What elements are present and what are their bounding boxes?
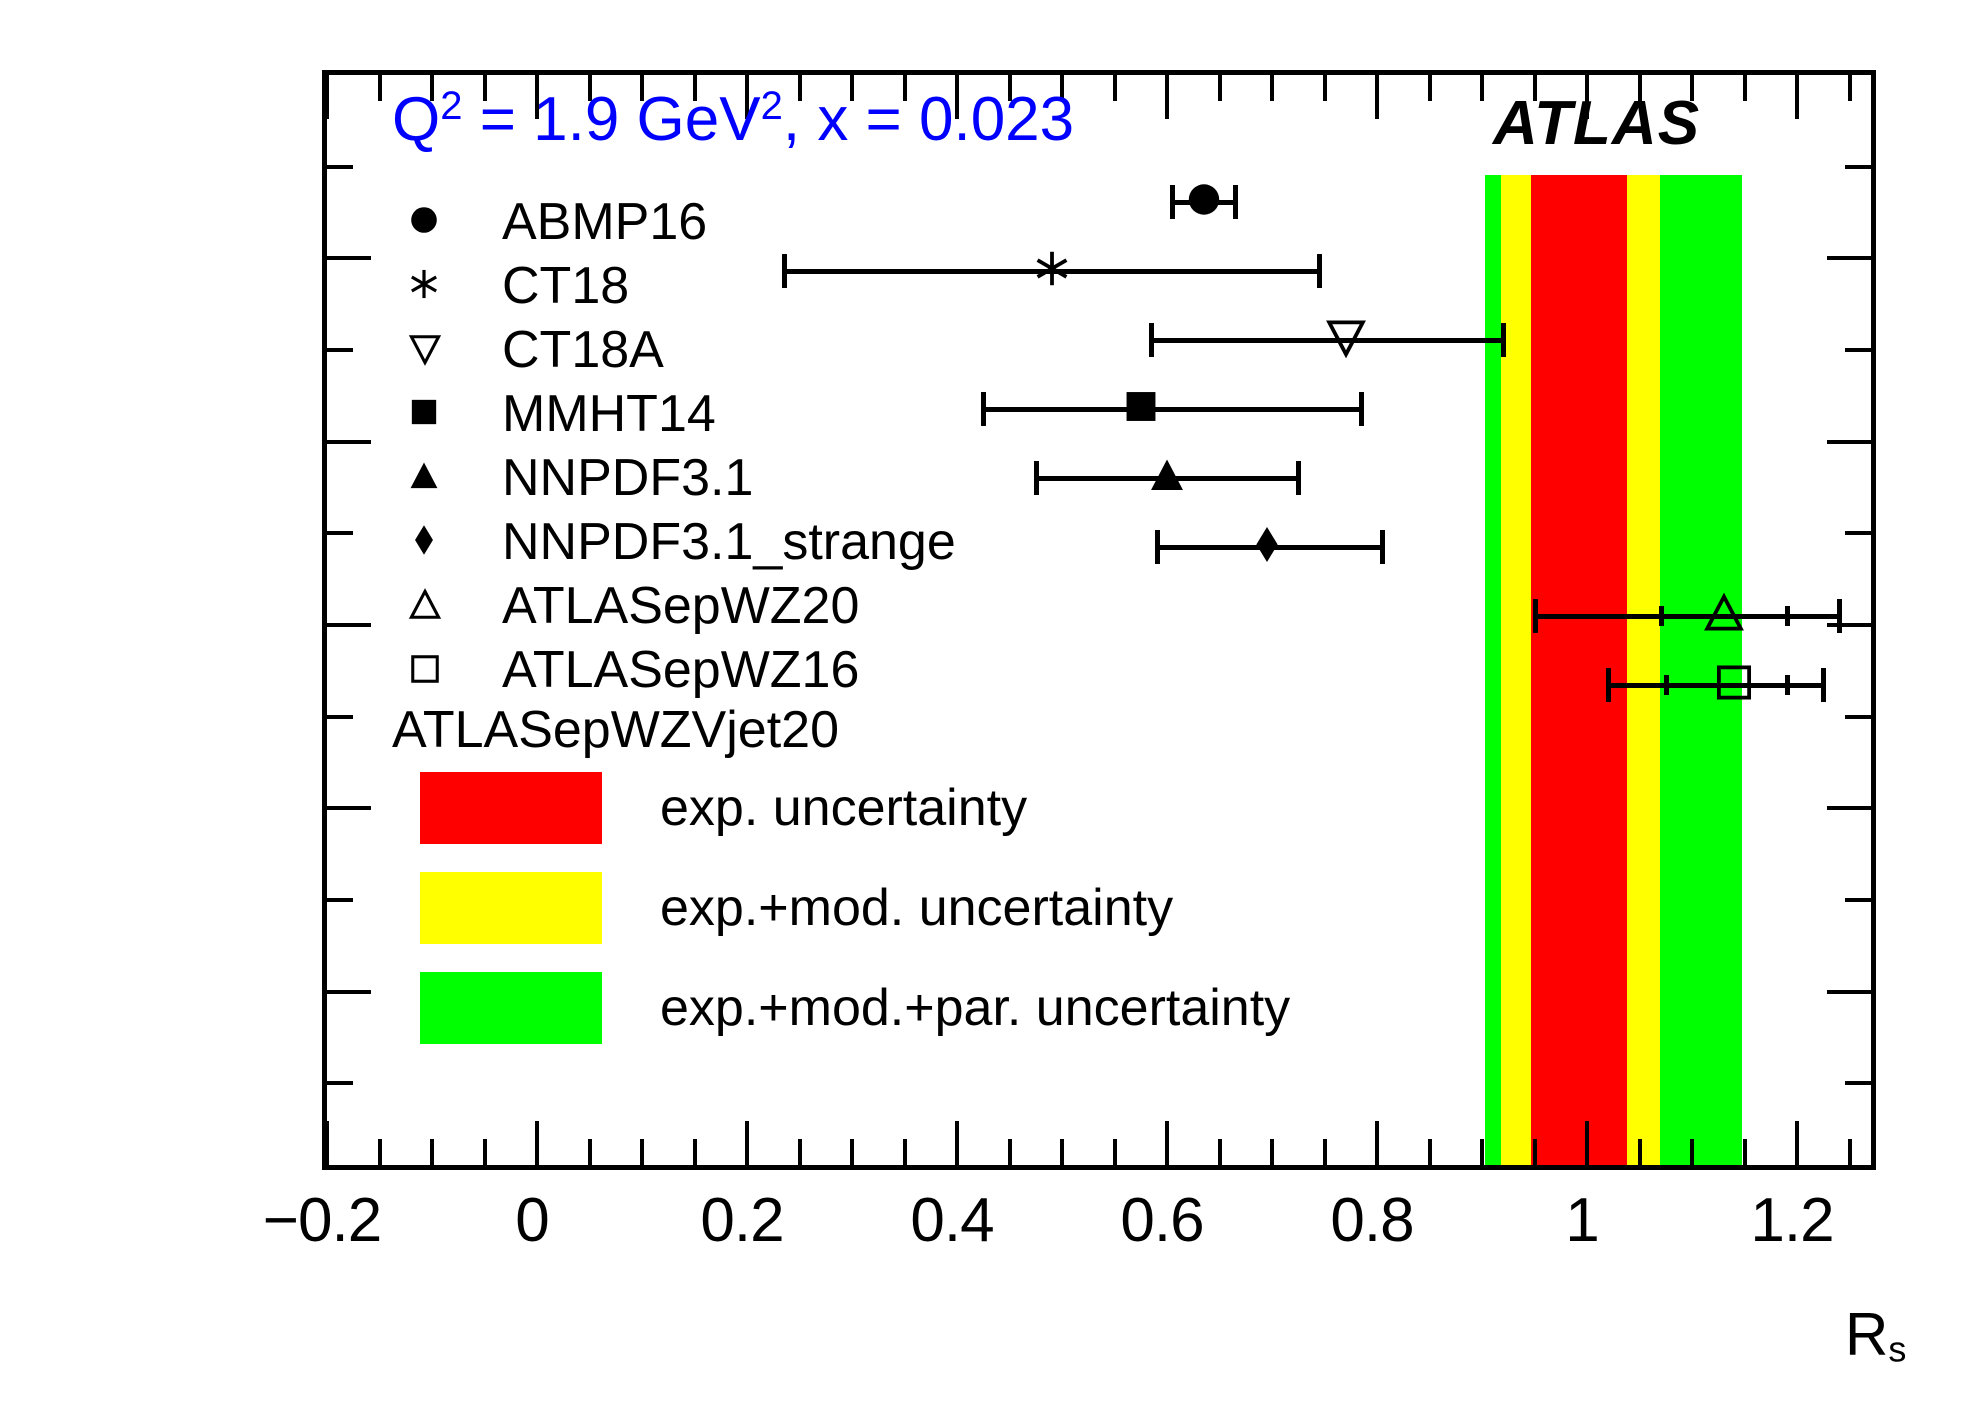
x-axis-major-tick <box>327 1121 329 1165</box>
error-bar-cap <box>1296 461 1301 495</box>
band-legend-label: exp.+mod.+par. uncertainty <box>660 978 1290 1038</box>
x-axis-minor-tick <box>1113 75 1117 101</box>
x-axis-minor-tick <box>693 1139 697 1165</box>
band-legend-label: exp.+mod. uncertainty <box>660 878 1173 938</box>
x-axis-minor-tick <box>1323 1139 1327 1165</box>
x-axis-minor-tick <box>1270 75 1274 101</box>
x-axis-minor-tick <box>588 1139 592 1165</box>
error-bar-cap <box>1380 530 1385 564</box>
x-axis-major-tick <box>955 1121 959 1165</box>
legend-entry: ATLASepWZ20 <box>392 574 1292 638</box>
x-axis-major-tick <box>1375 75 1379 119</box>
x-axis-minor-tick <box>1480 1139 1484 1165</box>
q2-annotation: Q2 = 1.9 GeV2, x = 0.023 <box>392 84 1074 155</box>
x-axis-minor-tick <box>378 75 382 101</box>
y-axis-tick <box>327 806 371 810</box>
x-axis-minor-tick <box>903 1139 907 1165</box>
x-axis-minor-tick <box>1428 1139 1432 1165</box>
uncertainty-band <box>1531 175 1627 1165</box>
data-marker-open-up-triangle <box>1703 593 1745 640</box>
x-axis-minor-tick <box>640 1139 644 1165</box>
legend-label: NNPDF3.1 <box>502 448 753 508</box>
x-axis-minor-tick <box>1323 75 1327 101</box>
x-axis-minor-tick <box>1743 75 1747 101</box>
marker-legend: ABMP16CT18CT18AMMHT14NNPDF3.1NNPDF3.1_st… <box>392 190 1292 702</box>
y-axis-tick <box>327 165 353 169</box>
legend-label: ABMP16 <box>502 192 707 252</box>
x-axis-title: Rs <box>1845 1300 1906 1370</box>
inner-error-bar-tick <box>1659 606 1664 626</box>
atlas-label: ATLAS <box>1493 88 1700 159</box>
error-bar-line <box>1535 614 1840 619</box>
y-axis-tick <box>1845 348 1871 352</box>
x-axis-minor-tick <box>1113 1139 1117 1165</box>
q2-mid: = 1.9 GeV <box>462 85 760 154</box>
legend-label: ATLASepWZ16 <box>502 640 859 700</box>
axis-title-sub: s <box>1888 1328 1906 1369</box>
legend-entry: ABMP16 <box>392 190 1292 254</box>
y-axis-tick <box>327 256 371 260</box>
x-axis-minor-tick <box>483 1139 487 1165</box>
error-bar-cap <box>1317 254 1322 288</box>
error-bar-cap <box>1606 668 1611 702</box>
open-up-triangle-icon <box>392 574 458 638</box>
x-axis-minor-tick <box>1060 1139 1064 1165</box>
y-axis-tick <box>327 1081 353 1085</box>
legend-entry: MMHT14 <box>392 382 1292 446</box>
x-axis-minor-tick <box>798 1139 802 1165</box>
legend-label: MMHT14 <box>502 384 716 444</box>
x-axis-minor-tick <box>378 1139 382 1165</box>
legend-entry: NNPDF3.1 <box>392 446 1292 510</box>
data-marker-open-square <box>1713 662 1755 709</box>
y-axis-tick <box>1827 440 1871 444</box>
x-axis-tick-label: −0.2 <box>263 1185 381 1256</box>
legend-entry: ATLASepWZ16 <box>392 638 1292 702</box>
x-axis-major-tick <box>1165 75 1169 119</box>
x-axis-minor-tick <box>1218 1139 1222 1165</box>
filled-diamond-icon <box>392 510 458 574</box>
x-axis-tick-label: 0.8 <box>1330 1185 1413 1256</box>
x-axis-minor-tick <box>1270 1139 1274 1165</box>
legend-entry: CT18 <box>392 254 1292 318</box>
x-axis-minor-tick <box>1848 75 1852 101</box>
x-axis-tick-label: 1.2 <box>1750 1185 1833 1256</box>
x-axis-major-tick <box>1795 75 1799 119</box>
x-axis-minor-tick <box>1218 75 1222 101</box>
x-axis-tick-label: 0.4 <box>910 1185 993 1256</box>
legend-entry: CT18A <box>392 318 1292 382</box>
band-color-swatch <box>420 972 602 1044</box>
x-axis-minor-tick <box>1690 1139 1694 1165</box>
x-axis-minor-tick <box>1848 1139 1852 1165</box>
x-axis-minor-tick <box>1008 1139 1012 1165</box>
x-axis-minor-tick <box>850 1139 854 1165</box>
x-axis-tick-label: 0 <box>515 1185 548 1256</box>
x-axis-major-tick <box>1585 1121 1589 1165</box>
x-axis-tick-label: 0.6 <box>1120 1185 1203 1256</box>
y-axis-tick <box>1845 165 1871 169</box>
y-axis-tick <box>327 440 371 444</box>
y-axis-tick <box>1827 623 1871 627</box>
y-axis-tick <box>327 623 371 627</box>
q2-exponent: 2 <box>440 84 462 128</box>
axis-title-main: R <box>1845 1301 1888 1368</box>
y-axis-tick <box>1827 256 1871 260</box>
x-axis-minor-tick <box>1480 75 1484 101</box>
x-axis-minor-tick <box>1533 1139 1537 1165</box>
error-bar-cap <box>1821 668 1826 702</box>
x-axis-minor-tick <box>1428 75 1432 101</box>
band-color-swatch <box>420 872 602 944</box>
q2-tail: , x = 0.023 <box>783 85 1074 154</box>
y-axis-tick <box>1845 1081 1871 1085</box>
open-square-icon <box>392 638 458 702</box>
error-bar-cap <box>1837 599 1842 633</box>
band-group-label: ATLASepWZVjet20 <box>392 700 839 760</box>
y-axis-tick <box>1845 531 1871 535</box>
x-axis-major-tick <box>745 1121 749 1165</box>
filled-square-icon <box>392 382 458 446</box>
error-bar-cap <box>1533 599 1538 633</box>
legend-label: CT18 <box>502 256 629 316</box>
x-axis-tick-label: 1 <box>1565 1185 1598 1256</box>
band-legend-label: exp. uncertainty <box>660 778 1027 838</box>
x-axis-minor-tick <box>1743 1139 1747 1165</box>
asterisk-icon <box>392 254 458 318</box>
data-marker-open-down-triangle <box>1325 317 1367 364</box>
x-axis-tick-label: 0.2 <box>700 1185 783 1256</box>
inner-error-bar-tick <box>1785 675 1790 695</box>
legend-label: ATLASepWZ20 <box>502 576 859 636</box>
x-axis-major-tick <box>327 75 329 119</box>
y-axis-tick <box>327 348 353 352</box>
q2-q: Q <box>392 85 440 154</box>
y-axis-tick <box>327 715 353 719</box>
legend-label: CT18A <box>502 320 664 380</box>
x-axis-major-tick <box>1795 1121 1799 1165</box>
x-axis-minor-tick <box>430 1139 434 1165</box>
legend-entry: NNPDF3.1_strange <box>392 510 1292 574</box>
chart-canvas: Q2 = 1.9 GeV2, x = 0.023 ATLAS ABMP16CT1… <box>0 0 1980 1424</box>
gev-exponent: 2 <box>761 84 783 128</box>
x-axis-major-tick <box>1165 1121 1169 1165</box>
band-color-swatch <box>420 772 602 844</box>
x-axis-major-tick <box>535 1121 539 1165</box>
open-down-triangle-icon <box>392 318 458 382</box>
y-axis-tick <box>1845 715 1871 719</box>
inner-error-bar-tick <box>1785 606 1790 626</box>
y-axis-tick <box>1827 990 1871 994</box>
x-axis-major-tick <box>1375 1121 1379 1165</box>
inner-error-bar-tick <box>1664 675 1669 695</box>
filled-circle-icon <box>392 190 458 254</box>
y-axis-tick <box>327 898 353 902</box>
legend-label: NNPDF3.1_strange <box>502 512 956 572</box>
filled-up-triangle-icon <box>392 446 458 510</box>
x-axis-minor-tick <box>1638 1139 1642 1165</box>
y-axis-tick <box>1845 898 1871 902</box>
y-axis-tick <box>327 990 371 994</box>
error-bar-cap <box>1359 392 1364 426</box>
y-axis-tick <box>327 531 353 535</box>
error-bar-cap <box>1501 323 1506 357</box>
y-axis-tick <box>1827 806 1871 810</box>
